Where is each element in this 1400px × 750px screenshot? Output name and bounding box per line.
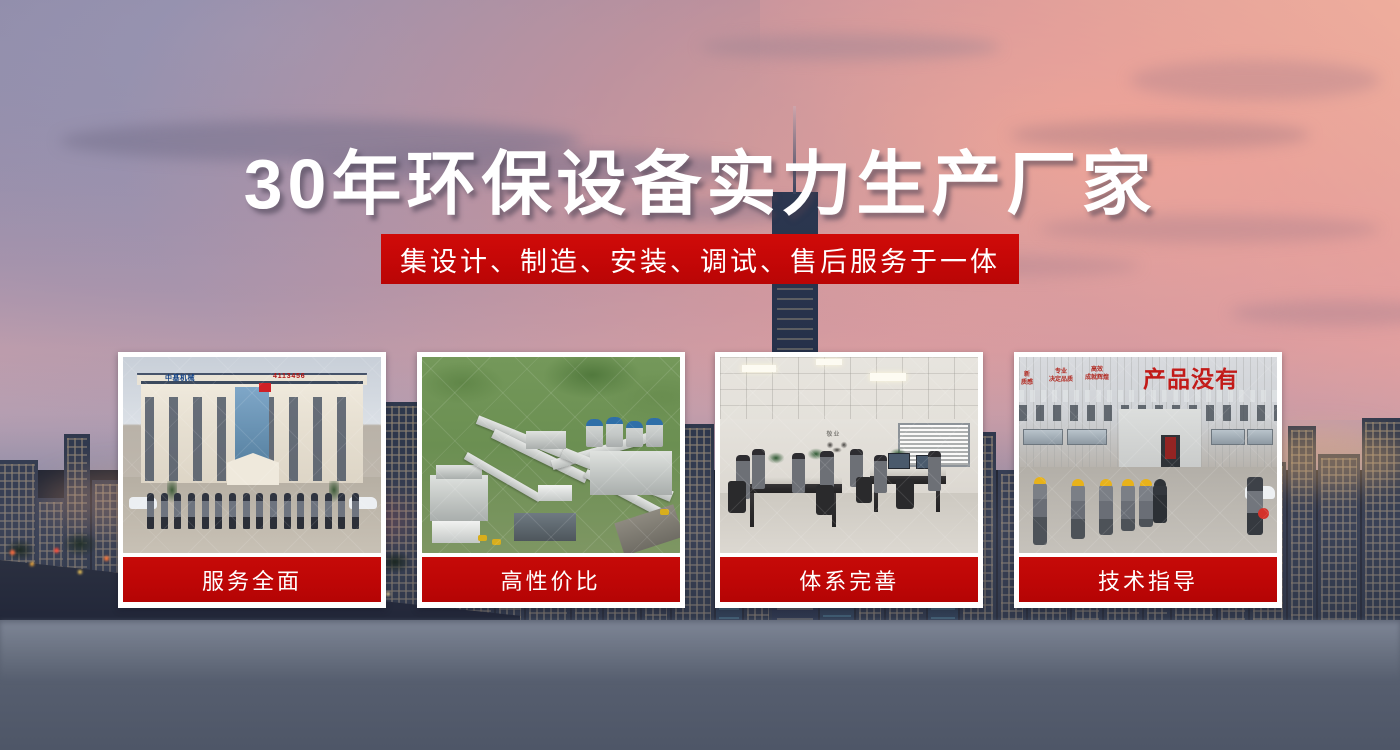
flag-icon bbox=[259, 383, 271, 392]
staff-row bbox=[147, 493, 359, 529]
red-helmet-icon bbox=[1258, 508, 1269, 519]
building-logo-text: 中基机械 bbox=[165, 373, 195, 383]
card-caption-bar: 高性价比 bbox=[422, 557, 680, 602]
feature-card[interactable]: 敬业 bbox=[715, 352, 983, 608]
factory-wall-slogan: 高效成就辉煌 bbox=[1085, 366, 1109, 382]
water-reflection bbox=[0, 622, 1400, 682]
feature-card[interactable]: 产品没有 新质感 专业决定品质 高效成就辉煌 bbox=[1014, 352, 1282, 608]
card-caption-text: 技术指导 bbox=[1098, 564, 1198, 596]
subtitle-banner: 集设计、制造、安装、调试、售后服务于一体 bbox=[381, 234, 1019, 284]
photo-industrial-plant-aerial bbox=[422, 357, 680, 553]
feature-card[interactable]: 高性价比 bbox=[417, 352, 685, 608]
photo-office-interior: 敬业 bbox=[720, 357, 978, 553]
building-phone-text: 4113456 bbox=[273, 373, 305, 380]
factory-wall-headline-text: 产品没有 bbox=[1143, 360, 1239, 394]
card-caption-bar: 技术指导 bbox=[1019, 557, 1277, 602]
cloud-band-icon bbox=[1130, 60, 1380, 100]
card-caption-bar: 服务全面 bbox=[123, 557, 381, 602]
card-caption-bar: 体系完善 bbox=[720, 557, 978, 602]
factory-wall-slogan: 新质感 bbox=[1021, 371, 1033, 387]
feature-card-grid: 中基机械 4113456 服务全面 bbox=[118, 352, 1282, 608]
subtitle-text: 集设计、制造、安装、调试、售后服务于一体 bbox=[400, 240, 1000, 279]
photo-company-headquarters: 中基机械 4113456 bbox=[123, 357, 381, 553]
card-caption-text: 体系完善 bbox=[799, 564, 899, 596]
page-title: 30年环保设备实力生产厂家 bbox=[0, 128, 1400, 229]
photo-factory-workers: 产品没有 新质感 专业决定品质 高效成就辉煌 bbox=[1019, 357, 1277, 553]
feature-card[interactable]: 中基机械 4113456 服务全面 bbox=[118, 352, 386, 608]
card-caption-text: 高性价比 bbox=[501, 564, 601, 596]
card-caption-text: 服务全面 bbox=[202, 564, 302, 596]
factory-wall-slogan: 专业决定品质 bbox=[1049, 368, 1073, 384]
factory-door bbox=[1161, 435, 1180, 467]
supervisor-figure bbox=[1247, 477, 1263, 535]
cloud-band-icon bbox=[700, 34, 1000, 60]
promo-banner: 30年环保设备实力生产厂家 集设计、制造、安装、调试、售后服务于一体 中基机械 … bbox=[0, 0, 1400, 750]
